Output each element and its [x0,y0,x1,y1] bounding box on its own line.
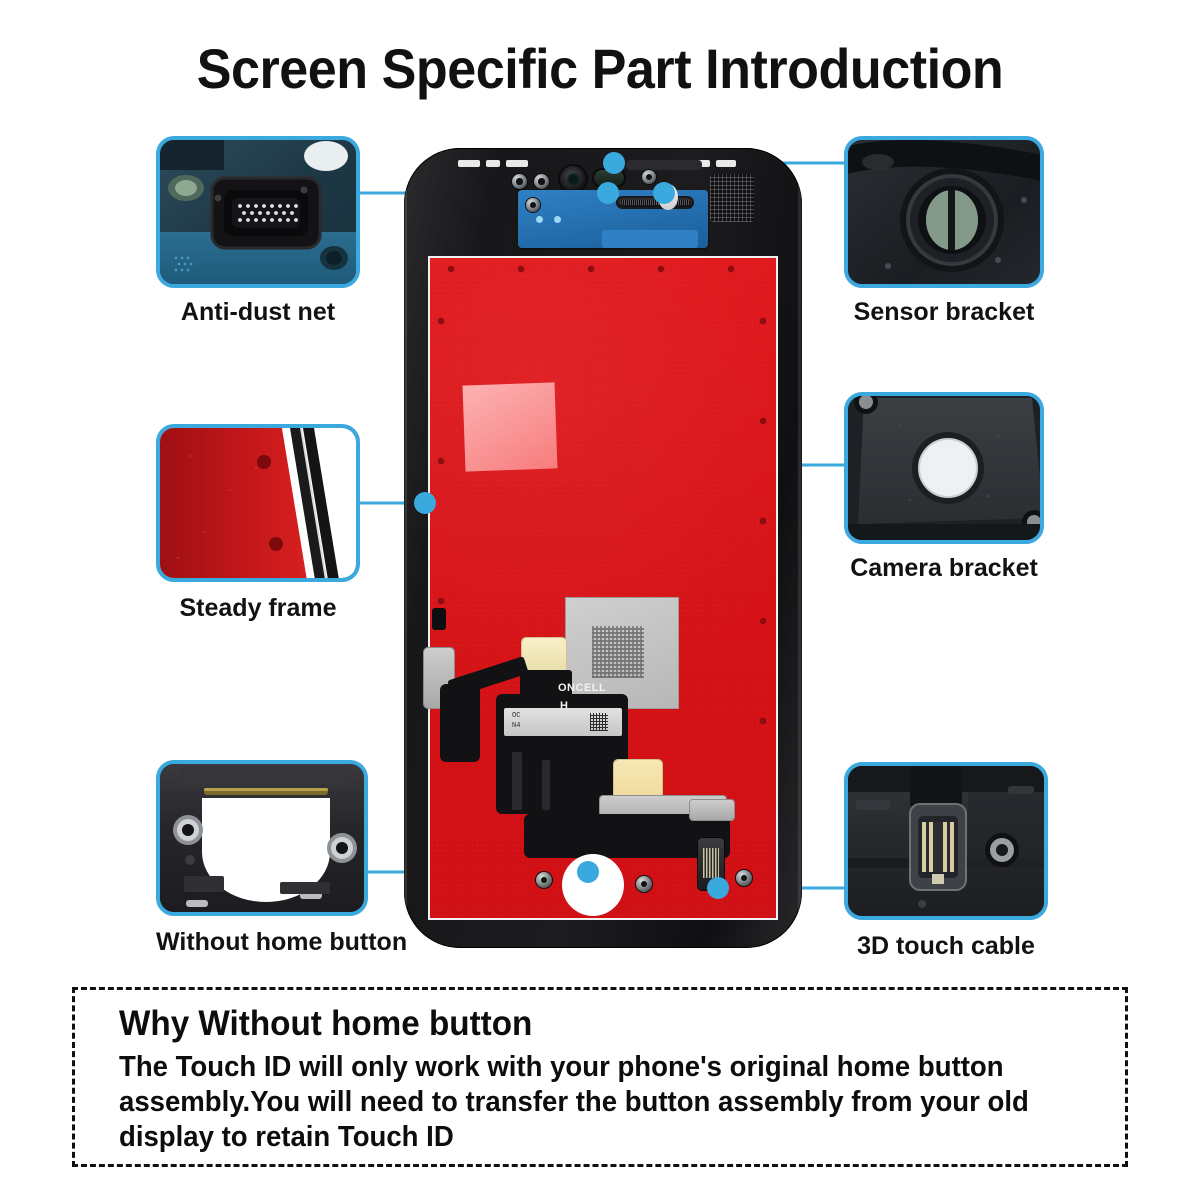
peel-tab [463,382,558,471]
info-box-body: The Touch ID will only work with your ph… [119,1050,1060,1155]
callout-anti-dust-net[interactable]: Anti-dust net [156,136,360,336]
metal-shield-tab [690,800,734,820]
screw-hole [536,872,552,888]
art-sensor-bracket [848,140,1040,284]
screw-hole [642,170,656,184]
flex-brand-text: ONCELL [558,682,606,694]
screw-hole [636,876,652,892]
bezel-tick [486,160,500,167]
front-camera-ring [560,166,586,192]
thumbnail-sensor-bracket[interactable] [844,136,1044,288]
callout-label-anti-dust-net: Anti-dust net [156,298,360,327]
barcode-label: OC N4 [504,708,622,736]
flex-trace [512,752,522,810]
art-camera-bracket [848,396,1040,540]
thumbnail-anti-dust-net[interactable] [156,136,360,288]
thumbnail-without-home-button[interactable] [156,760,368,916]
bezel-tick [458,160,480,167]
phone-screen-assembly: ONCELL H OC N4 [404,148,802,948]
flex-trace [542,760,550,810]
barcode-text-1: OC [512,712,520,721]
bracket-tab [602,230,698,248]
side-tab [432,608,446,630]
callout-steady-frame[interactable]: Steady frame [156,424,360,624]
marker-dot-camera-bracket [653,182,675,204]
callout-camera-bracket[interactable]: Camera bracket [844,392,1044,592]
art-steady-frame [160,428,356,578]
flex-cable [440,684,480,762]
top-bracket-bar [626,160,702,170]
bezel-tick [506,160,528,167]
bracket-dot-row [536,216,561,223]
info-box-heading: Why Without home button [119,1004,532,1044]
speaker-mesh-patch [710,174,754,222]
marker-dot-3d-touch-cable [707,877,729,899]
marker-dot-anti-dust-net [597,182,619,204]
marker-dot-without-home-button [577,861,599,883]
callout-3d-touch-cable[interactable]: 3D touch cable [844,762,1048,970]
page-title: Screen Specific Part Introduction [42,36,1158,101]
art-anti-dust-net [160,140,356,284]
thumbnail-steady-frame[interactable] [156,424,360,582]
art-without-home-button [160,764,364,912]
screw-hole [534,174,549,189]
screw-hole [736,870,752,886]
callout-label-steady-frame: Steady frame [156,594,360,623]
thumbnail-camera-bracket[interactable] [844,392,1044,544]
bracket-screw-hole [526,198,540,212]
infographic-canvas: Screen Specific Part Introduction [0,0,1200,1200]
callout-label-3d-touch-cable: 3D touch cable [844,932,1048,961]
marker-dot-sensor-bracket [603,152,625,174]
callout-sensor-bracket[interactable]: Sensor bracket [844,136,1044,336]
screw-hole [512,174,527,189]
marker-dot-steady-frame [414,492,436,514]
barcode-text-2: N4 [512,722,520,731]
art-3d-touch-cable [848,766,1044,916]
barcode-qr [590,713,608,731]
thumbnail-3d-touch-cable[interactable] [844,762,1048,920]
callout-label-without-home-button: Without home button [156,928,368,957]
bezel-tick [716,160,736,167]
callout-label-sensor-bracket: Sensor bracket [844,298,1044,327]
info-box-without-home-button: Why Without home button The Touch ID wil… [72,987,1128,1167]
callout-without-home-button[interactable]: Without home button [156,760,368,970]
callout-label-camera-bracket: Camera bracket [844,554,1044,583]
